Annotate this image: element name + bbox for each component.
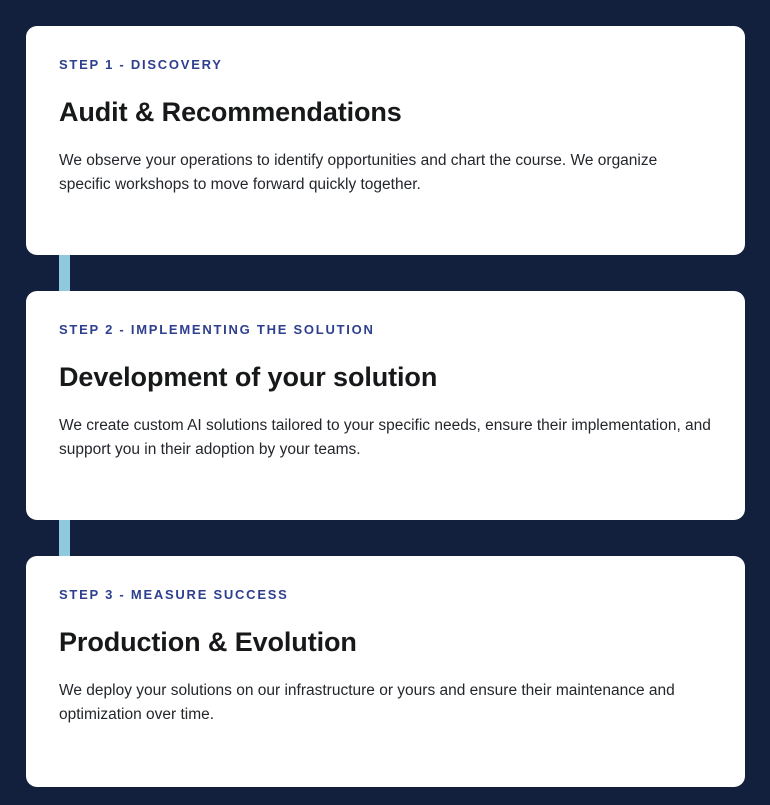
step-3-title: Production & Evolution	[59, 627, 711, 658]
step-2-title: Development of your solution	[59, 362, 711, 393]
step-2-eyebrow: STEP 2 - IMPLEMENTING THE SOLUTION	[59, 323, 711, 336]
step-2-body: We create custom AI solutions tailored t…	[59, 414, 711, 461]
step-card-1: STEP 1 - DISCOVERY Audit & Recommendatio…	[26, 26, 745, 255]
timeline-connector-1-2	[59, 253, 70, 293]
step-3-body: We deploy your solutions on our infrastr…	[59, 679, 711, 726]
steps-timeline: STEP 1 - DISCOVERY Audit & Recommendatio…	[0, 0, 770, 805]
step-1-title: Audit & Recommendations	[59, 97, 711, 128]
step-1-eyebrow: STEP 1 - DISCOVERY	[59, 58, 711, 71]
timeline-connector-2-3	[59, 518, 70, 558]
step-1-body: We observe your operations to identify o…	[59, 149, 711, 196]
step-card-3: STEP 3 - MEASURE SUCCESS Production & Ev…	[26, 556, 745, 787]
step-card-2: STEP 2 - IMPLEMENTING THE SOLUTION Devel…	[26, 291, 745, 520]
step-3-eyebrow: STEP 3 - MEASURE SUCCESS	[59, 588, 711, 601]
